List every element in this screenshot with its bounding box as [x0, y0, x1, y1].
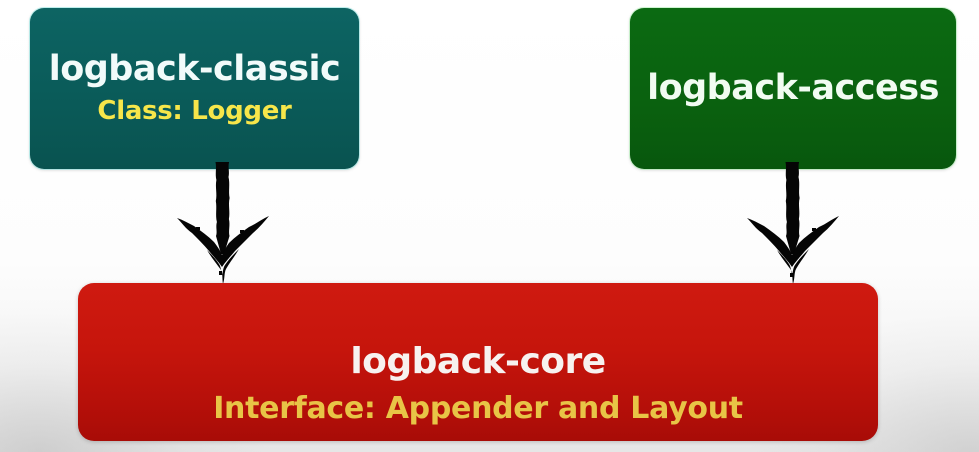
- arrow-down-access-to-core-icon: [733, 162, 853, 286]
- node-logback-access[interactable]: logback-access: [630, 8, 956, 169]
- node-logback-core-subtitle: Interface: Appender and Layout: [213, 393, 743, 425]
- node-logback-access-title: logback-access: [647, 70, 939, 107]
- diagram-canvas: logback-classic Class: Logger logback-ac…: [0, 0, 979, 452]
- node-logback-classic-title: logback-classic: [49, 51, 341, 88]
- node-logback-classic[interactable]: logback-classic Class: Logger: [30, 8, 359, 169]
- node-logback-core[interactable]: logback-core Interface: Appender and Lay…: [78, 283, 878, 441]
- node-logback-core-title: logback-core: [350, 343, 605, 381]
- arrow-down-classic-to-core-icon: [163, 162, 283, 286]
- node-logback-classic-subtitle: Class: Logger: [97, 98, 291, 126]
